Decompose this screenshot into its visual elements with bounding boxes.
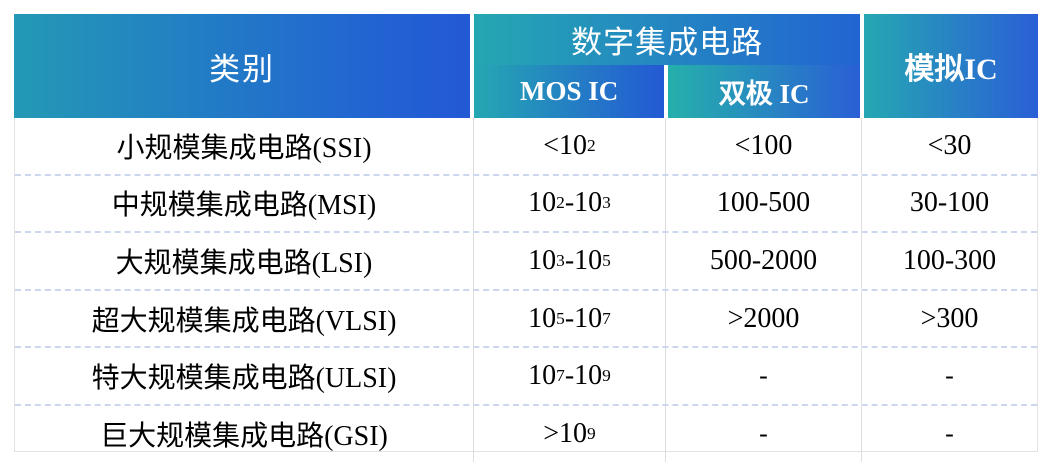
cell-bipolar: - bbox=[666, 406, 862, 462]
header-cell-digital-group: 数字集成电路 bbox=[474, 14, 860, 65]
cell-mos: 103-105 bbox=[474, 233, 666, 289]
header-label-digital-group: 数字集成电路 bbox=[571, 17, 763, 62]
cell-mos: >109 bbox=[474, 406, 666, 462]
cell-category: 大规模集成电路(LSI) bbox=[15, 233, 474, 289]
header-cell-analog: 模拟IC bbox=[864, 14, 1038, 118]
cell-category: 小规模集成电路(SSI) bbox=[15, 118, 474, 174]
cell-analog: 30-100 bbox=[862, 176, 1037, 232]
cell-analog: - bbox=[862, 406, 1037, 462]
table-row: 小规模集成电路(SSI)<102<100<30 bbox=[15, 118, 1037, 174]
cell-analog: <30 bbox=[862, 118, 1037, 174]
header-label-mos: MOS IC bbox=[520, 76, 618, 107]
cell-category: 中规模集成电路(MSI) bbox=[15, 176, 474, 232]
header-label-category: 类别 bbox=[209, 44, 275, 89]
header-label-bipolar: 双极 IC bbox=[719, 72, 810, 111]
cell-mos: 102-103 bbox=[474, 176, 666, 232]
header-label-analog: 模拟IC bbox=[904, 44, 997, 88]
cell-bipolar: 500-2000 bbox=[666, 233, 862, 289]
cell-bipolar: 100-500 bbox=[666, 176, 862, 232]
cell-mos: 105-107 bbox=[474, 291, 666, 347]
cell-bipolar: - bbox=[666, 348, 862, 404]
cell-category: 特大规模集成电路(ULSI) bbox=[15, 348, 474, 404]
cell-category: 巨大规模集成电路(GSI) bbox=[15, 406, 474, 462]
table-body: 小规模集成电路(SSI)<102<100<30中规模集成电路(MSI)102-1… bbox=[14, 118, 1038, 452]
table-header: 类别 数字集成电路 MOS IC 双极 IC 模拟IC bbox=[14, 14, 1038, 118]
ic-classification-table: 类别 数字集成电路 MOS IC 双极 IC 模拟IC 小规模集成电路(SSI)… bbox=[14, 14, 1038, 452]
table-row: 超大规模集成电路(VLSI)105-107>2000>300 bbox=[15, 289, 1037, 347]
cell-bipolar: >2000 bbox=[666, 291, 862, 347]
cell-bipolar: <100 bbox=[666, 118, 862, 174]
header-cell-category: 类别 bbox=[14, 14, 470, 118]
cell-mos: <102 bbox=[474, 118, 666, 174]
header-subrow-digital: MOS IC 双极 IC bbox=[474, 65, 860, 118]
cell-analog: >300 bbox=[862, 291, 1037, 347]
header-cell-bipolar: 双极 IC bbox=[668, 65, 860, 118]
cell-analog: 100-300 bbox=[862, 233, 1037, 289]
header-group-digital: 数字集成电路 MOS IC 双极 IC bbox=[474, 14, 860, 118]
table-row: 特大规模集成电路(ULSI)107-109-- bbox=[15, 346, 1037, 404]
cell-mos: 107-109 bbox=[474, 348, 666, 404]
cell-analog: - bbox=[862, 348, 1037, 404]
header-cell-mos: MOS IC bbox=[474, 65, 664, 118]
table-row: 巨大规模集成电路(GSI)>109-- bbox=[15, 404, 1037, 462]
table-row: 中规模集成电路(MSI)102-103100-50030-100 bbox=[15, 174, 1037, 232]
cell-category: 超大规模集成电路(VLSI) bbox=[15, 291, 474, 347]
table-row: 大规模集成电路(LSI)103-105500-2000100-300 bbox=[15, 231, 1037, 289]
